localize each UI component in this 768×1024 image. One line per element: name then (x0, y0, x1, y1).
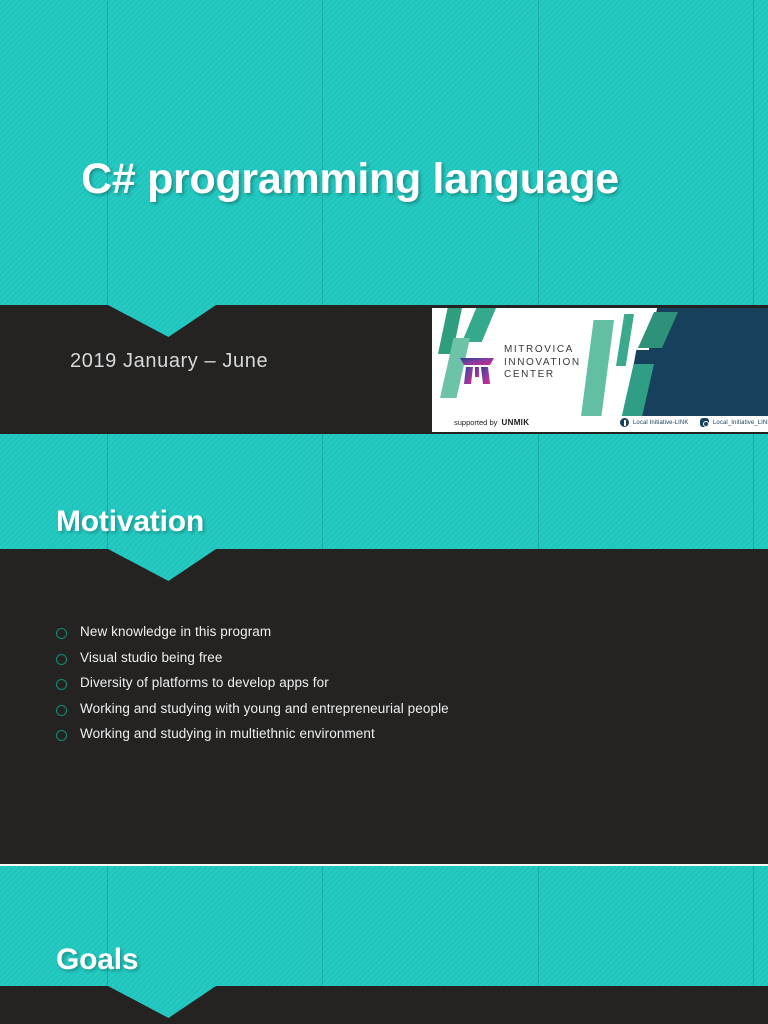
facebook-icon (620, 418, 629, 427)
sponsor-banner: MITROVICA INNOVATION CENTER supported by… (432, 308, 768, 432)
bullet-circle-icon (56, 705, 67, 716)
facebook-handle: Local Initiative-LINK (633, 420, 688, 426)
list-item: Working and studying in multiethnic envi… (56, 726, 696, 741)
bullet-circle-icon (56, 730, 67, 741)
sponsor-org-name: MITROVICA INNOVATION CENTER (504, 344, 581, 382)
supported-by-label: supported by UNMIK (454, 418, 529, 427)
banner-shape-5 (616, 314, 634, 366)
list-item-label: Diversity of platforms to develop apps f… (80, 675, 329, 690)
slide-title: C# programming language 2019 January – J… (0, 0, 768, 434)
instagram-icon (700, 418, 709, 427)
list-item-label: Visual studio being free (80, 650, 223, 665)
goals-body (0, 986, 768, 1024)
slide-motivation: Motivation New knowledge in this program… (0, 434, 768, 866)
date-range-label: 2019 January – June (70, 350, 268, 373)
slide-goals: Goals (0, 866, 768, 1024)
bullet-circle-icon (56, 654, 67, 665)
section-heading-motivation: Motivation (56, 505, 204, 539)
column-guide-lines (0, 0, 768, 305)
org-line-2: INNOVATION (504, 357, 581, 370)
banner-shape-4 (580, 320, 614, 424)
supported-by-prefix: supported by (454, 418, 497, 427)
list-item-label: Working and studying in multiethnic envi… (80, 726, 375, 741)
supported-by-org: UNMIK (502, 418, 530, 427)
mitrovica-innovation-center-logo-icon (456, 346, 498, 388)
list-item-label: Working and studying with young and entr… (80, 701, 449, 716)
social-link-facebook[interactable]: Local Initiative-LINK (620, 418, 688, 427)
section-heading-goals: Goals (56, 943, 138, 977)
presentation-deck: C# programming language 2019 January – J… (0, 0, 768, 1024)
list-item: Diversity of platforms to develop apps f… (56, 675, 696, 690)
instagram-handle: Local_Initiative_LINK (713, 420, 768, 426)
banner-shape-2 (462, 308, 496, 342)
title-slide-teal-panel (0, 0, 768, 305)
org-line-1: MITROVICA (504, 344, 581, 357)
social-link-instagram[interactable]: Local_Initiative_LINK (700, 418, 768, 427)
motivation-bullet-list: New knowledge in this program Visual stu… (56, 624, 696, 752)
list-item: Working and studying with young and entr… (56, 701, 696, 716)
bullet-circle-icon (56, 679, 67, 690)
bullet-circle-icon (56, 628, 67, 639)
org-line-3: CENTER (504, 369, 581, 382)
list-item-label: New knowledge in this program (80, 624, 271, 639)
list-item: Visual studio being free (56, 650, 696, 665)
page-title: C# programming language (0, 155, 700, 204)
list-item: New knowledge in this program (56, 624, 696, 639)
